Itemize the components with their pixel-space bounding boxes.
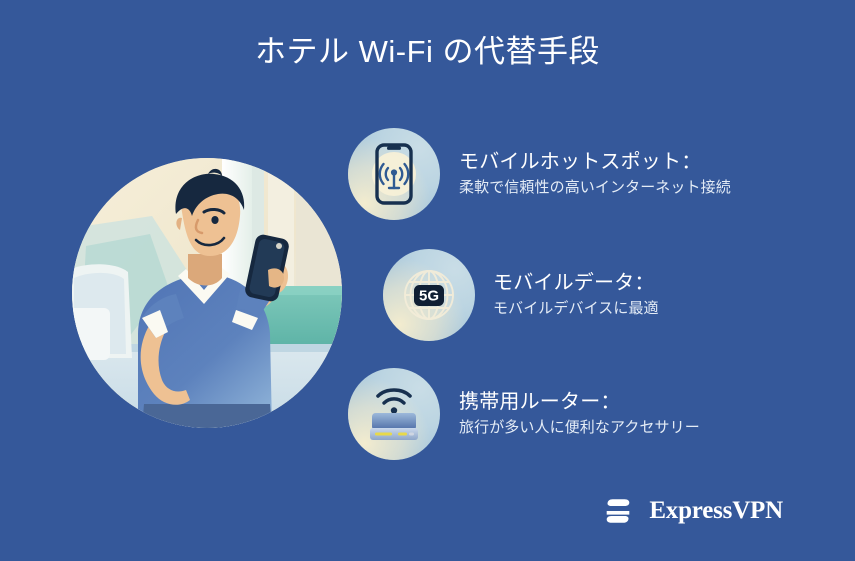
list-item-subtitle: 柔軟で信頼性の高いインターネット接続 <box>459 177 731 199</box>
badge-5g-label: 5G <box>419 287 439 304</box>
expressvpn-e-mark-icon <box>600 493 636 529</box>
logo-wordmark: ExpressVPN <box>649 497 783 525</box>
mobile-hotspot-icon <box>348 128 440 220</box>
list-item-heading: モバイルホットスポット： <box>459 149 731 176</box>
list-item-portable-router: 携帯用ルーター： 旅行が多い人に便利なアクセサリー <box>348 368 700 460</box>
globe-5g-icon: 5G <box>383 249 475 341</box>
infographic-canvas: ホテル Wi-Fi の代替手段 <box>0 0 855 561</box>
portable-router-icon <box>348 368 440 460</box>
list-item-mobile-hotspot: モバイルホットスポット： 柔軟で信頼性の高いインターネット接続 <box>348 128 731 220</box>
list-item-text-group: モバイルデータ： モバイルデバイスに最適 <box>493 270 659 320</box>
list-item-mobile-data: 5G モバイルデータ： モバイルデバイスに最適 <box>383 249 659 341</box>
list-item-text-group: 携帯用ルーター： 旅行が多い人に便利なアクセサリー <box>459 389 700 439</box>
list-item-text-group: モバイルホットスポット： 柔軟で信頼性の高いインターネット接続 <box>459 149 731 199</box>
list-item-heading: モバイルデータ： <box>493 270 659 297</box>
list-item-heading: 携帯用ルーター： <box>459 389 700 416</box>
man-holding-smartphone-illustration <box>72 158 342 428</box>
list-item-subtitle: モバイルデバイスに最適 <box>493 298 659 320</box>
page-title: ホテル Wi-Fi の代替手段 <box>0 26 855 71</box>
expressvpn-logo: ExpressVPN <box>600 493 783 529</box>
list-item-subtitle: 旅行が多い人に便利なアクセサリー <box>459 417 700 439</box>
